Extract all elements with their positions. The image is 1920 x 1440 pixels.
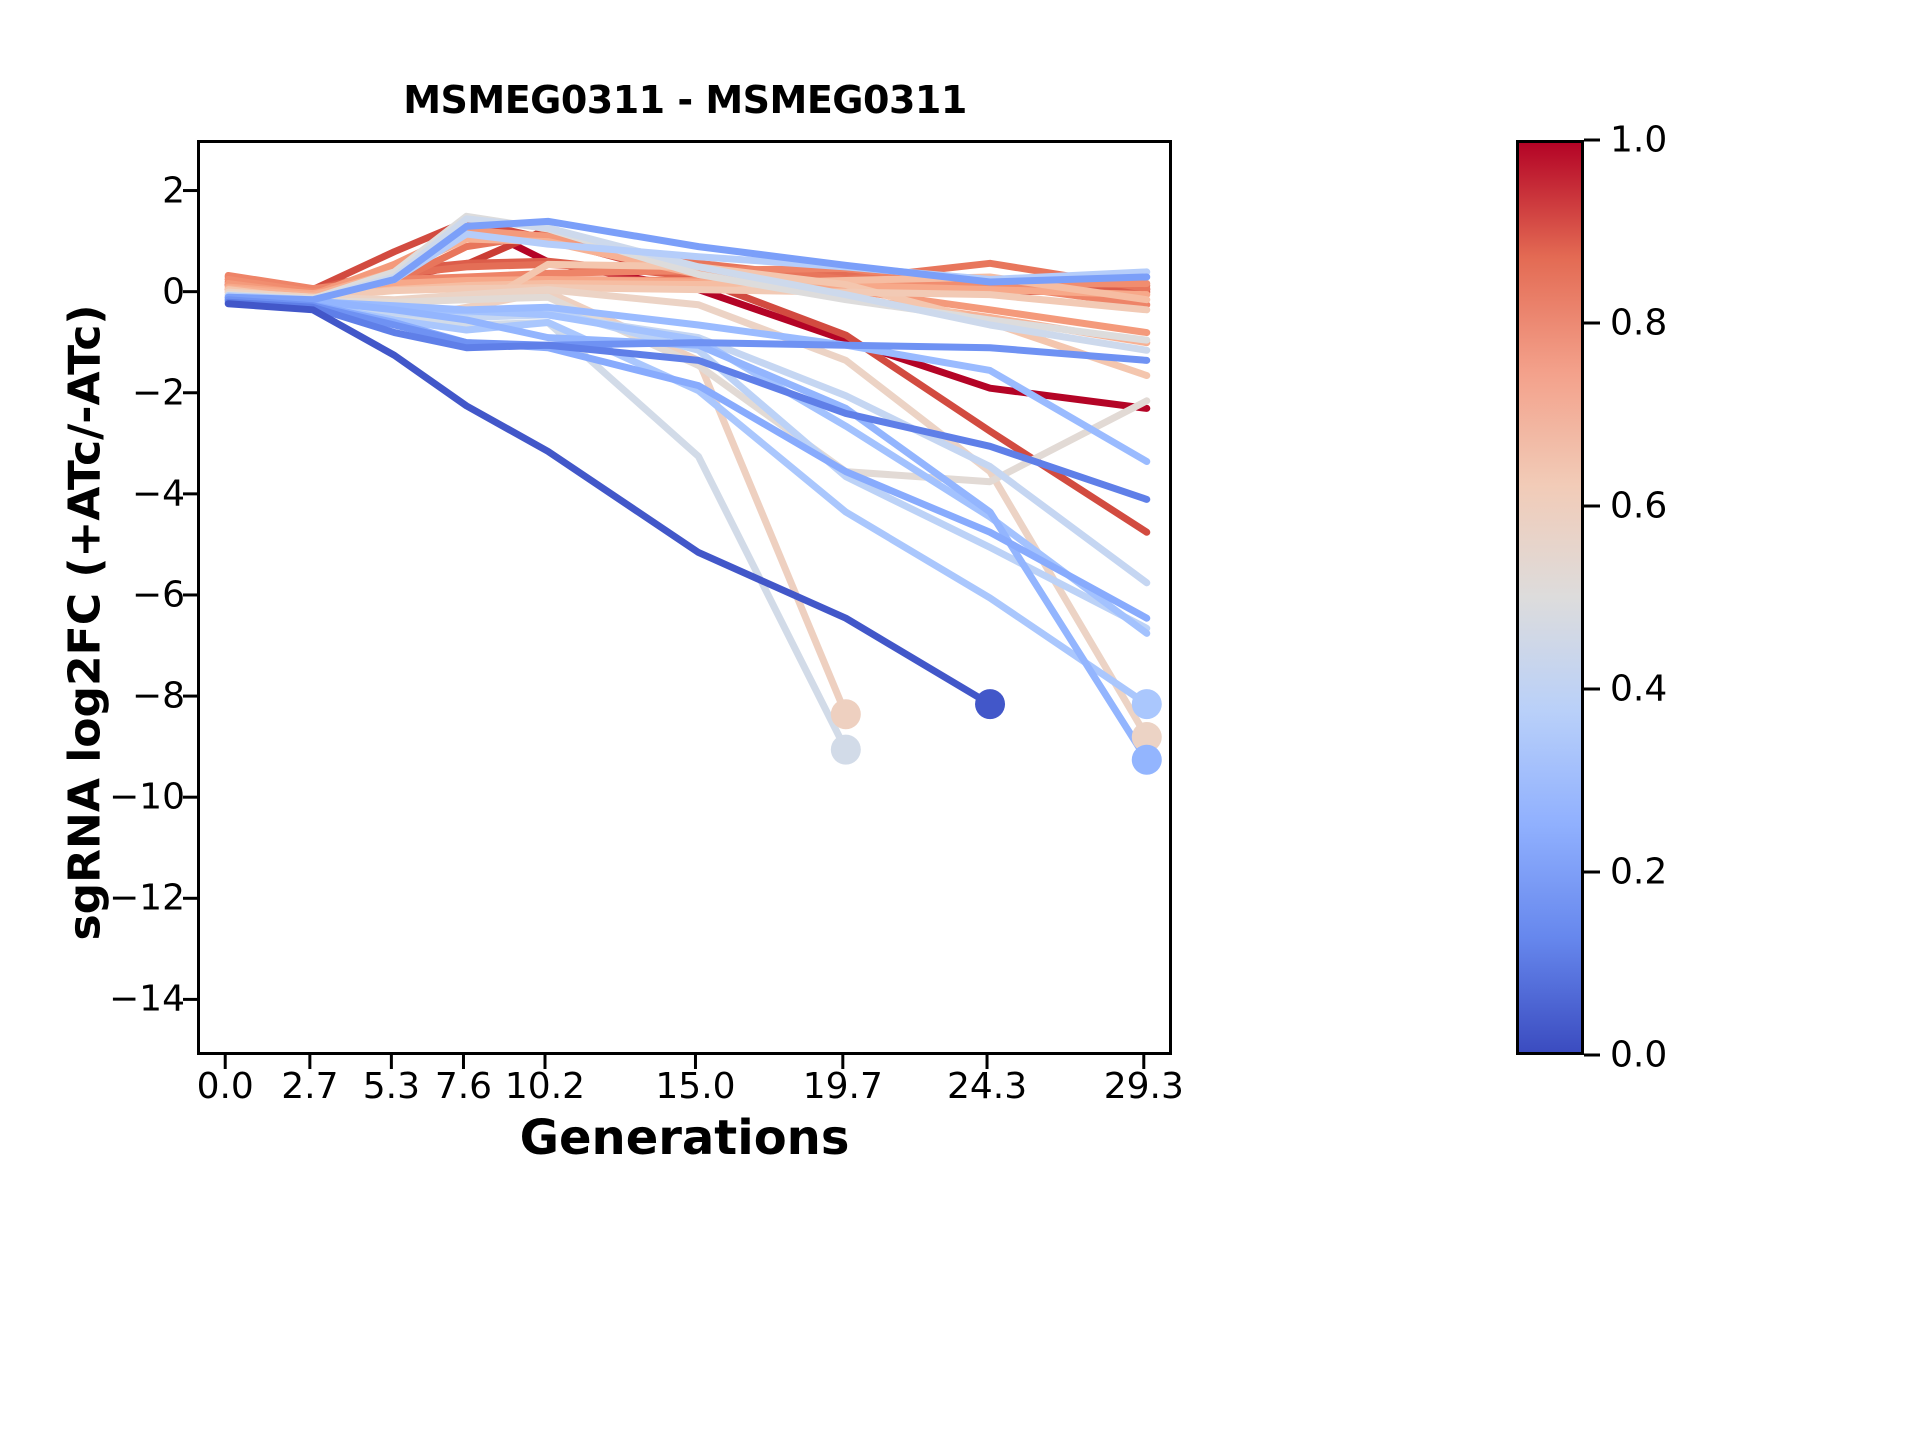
series-endpoint-marker [831, 699, 861, 729]
x-tick-label: 5.3 [363, 1066, 420, 1107]
y-tick-label: −4 [132, 473, 185, 514]
colorbar-tick-label: 0.6 [1610, 486, 1667, 527]
y-tick-label: 2 [162, 170, 185, 211]
series-endpoint-marker [831, 735, 861, 765]
series-endpoint-marker [1132, 689, 1162, 719]
series-line [228, 292, 846, 714]
colorbar-tick-label: 0.4 [1610, 669, 1667, 710]
colorbar-gradient [1516, 140, 1584, 1055]
x-axis-label: Generations [197, 1110, 1172, 1166]
x-tick-label: 7.6 [435, 1066, 492, 1107]
y-tick-label: −2 [132, 372, 185, 413]
y-tick-label: −14 [109, 979, 185, 1020]
x-tick-label: 19.7 [803, 1066, 883, 1107]
y-tick-label: −8 [132, 676, 185, 717]
y-tick-label: −10 [109, 777, 185, 818]
x-tick-label: 15.0 [655, 1066, 735, 1107]
colorbar [1516, 140, 1584, 1055]
y-tick-label: −6 [132, 574, 185, 615]
x-tick-label: 10.2 [505, 1066, 585, 1107]
x-tick-label: 0.0 [197, 1066, 254, 1107]
series-endpoint-marker [1132, 745, 1162, 775]
x-tick-label: 24.3 [947, 1066, 1027, 1107]
x-tick-label: 29.3 [1104, 1066, 1184, 1107]
page-title: MSMEG0311 - MSMEG0311 [195, 78, 1175, 122]
y-tick-label: −12 [109, 878, 185, 919]
series-endpoint-marker [975, 689, 1005, 719]
y-tick-label: 0 [162, 271, 185, 312]
y-axis-label: sgRNA log2FC (+ATc/-ATc) [60, 123, 111, 1123]
colorbar-tick-label: 0.8 [1610, 303, 1667, 344]
plot-area [197, 140, 1172, 1055]
line-series-svg [200, 143, 1172, 1055]
figure-canvas: MSMEG0311 - MSMEG0311 20−2−4−6−8−10−12−1… [0, 0, 1920, 1440]
colorbar-tick-label: 0.2 [1610, 852, 1667, 893]
colorbar-tick-label: 1.0 [1610, 120, 1667, 161]
colorbar-tick-label: 0.0 [1610, 1035, 1667, 1076]
x-tick-label: 2.7 [281, 1066, 338, 1107]
